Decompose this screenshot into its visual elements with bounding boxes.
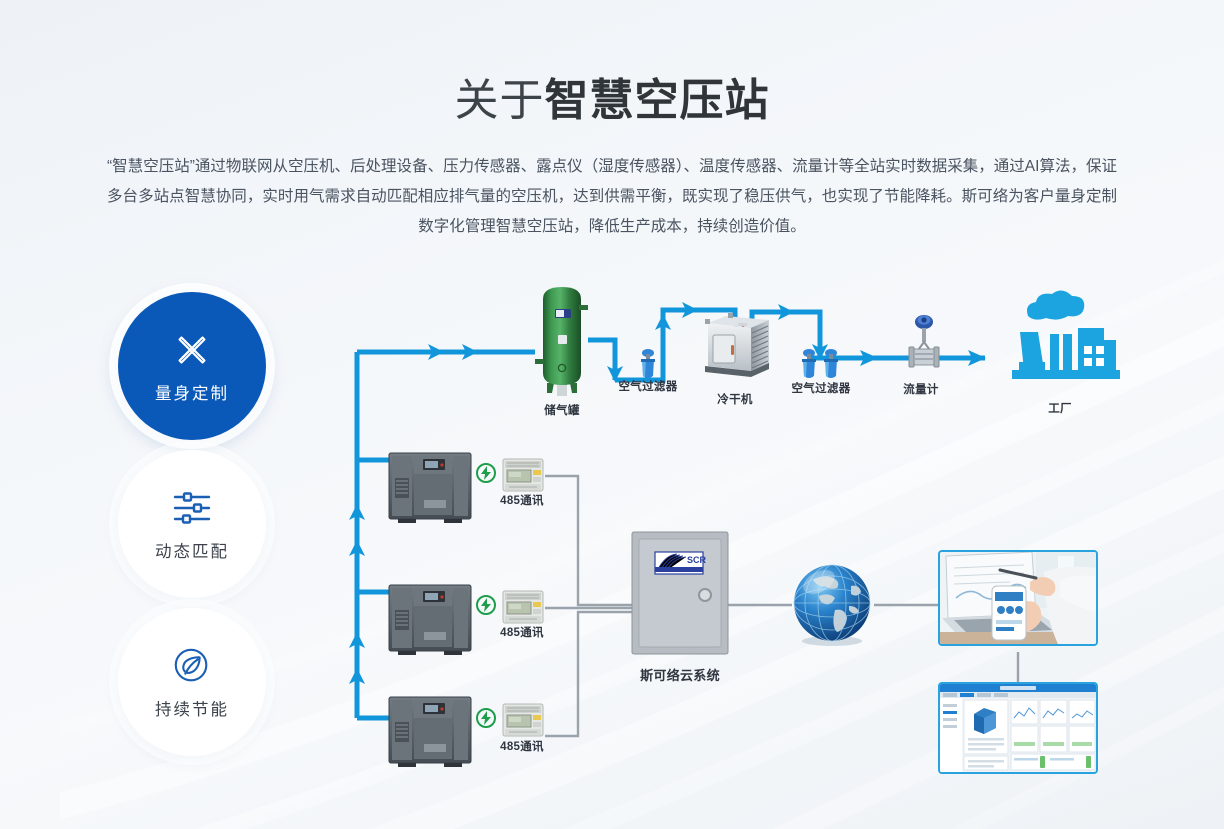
comm-label-485: 485通讯 <box>500 624 544 640</box>
mobile-app-photo <box>938 550 1098 646</box>
node-label-dryer: 冷干机 <box>717 391 752 407</box>
cabinet-logo-text: SCR <box>687 555 707 565</box>
web-dashboard-screenshot <box>938 682 1098 774</box>
comm-label-485: 485通讯 <box>500 738 544 754</box>
node-label-cloud-cabinet: 斯可络云系统 <box>640 665 720 684</box>
node-label-air-filter-1: 空气过滤器 <box>619 378 678 394</box>
node-label-air-tank: 储气罐 <box>544 402 579 418</box>
node-label-air-filter-2: 空气过滤器 <box>792 380 851 396</box>
node-label-flow-meter: 流量计 <box>903 381 938 397</box>
system-diagram: 储气罐 空气过滤器 <box>0 0 1224 829</box>
node-label-factory: 工厂 <box>1048 400 1072 416</box>
comm-label-485: 485通讯 <box>500 492 544 508</box>
